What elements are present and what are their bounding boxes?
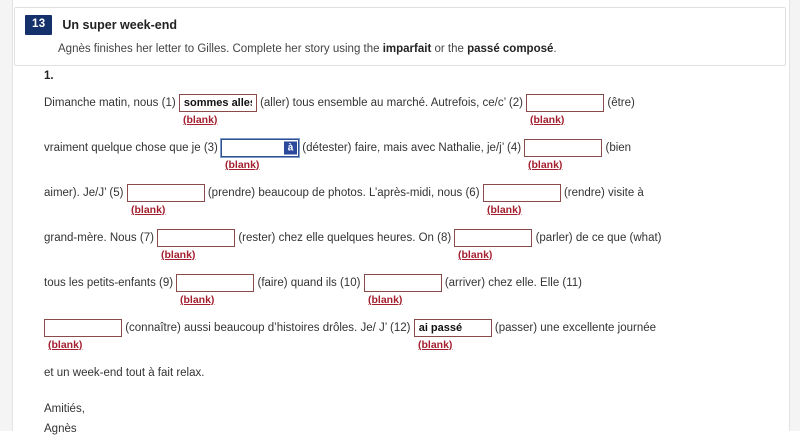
blank-caption: (blank) [487, 204, 521, 216]
blank-field-wrapper-4 [524, 138, 602, 158]
story-line-text: Dimanche matin, nous (1) (aller) tous en… [44, 93, 784, 113]
closing-line-agnes: Agnès [44, 419, 784, 439]
story-line-text: vraiment quelque chose que je (3) à (dét… [44, 138, 784, 158]
blank-caption: (blank) [528, 159, 562, 171]
item-number: 1. [44, 70, 784, 82]
question-body: 1. Dimanche matin, nous (1) (aller) tous… [44, 70, 784, 439]
blank-field-wrapper-2 [526, 93, 604, 113]
blank-field-wrapper-12 [414, 318, 492, 338]
blank-field-wrapper-6 [483, 183, 561, 203]
blank-caption: (blank) [458, 249, 492, 261]
instructions-text-3: . [553, 43, 556, 55]
story-text: (détester) faire, mais avec Nathalie, je… [302, 142, 524, 154]
blank-field-wrapper-5 [127, 183, 205, 203]
story-text: aimer). Je/J’ (5) [44, 187, 127, 199]
story-text: grand-mère. Nous (7) [44, 232, 157, 244]
story-text: (prendre) beaucoup de photos. L’après-mi… [208, 187, 483, 199]
blank-caption: (blank) [183, 114, 217, 126]
page-left-gutter [0, 0, 13, 431]
blank-caption: (blank) [48, 339, 82, 351]
blank-field-wrapper-3: à [221, 138, 299, 158]
story-text: tous les petits-enfants (9) [44, 277, 176, 289]
exercise-title: Un super week-end [62, 18, 177, 32]
blank-field-wrapper-1 [179, 93, 257, 113]
story-text: (faire) quand ils (10) [258, 277, 364, 289]
accent-char-a-grave-button[interactable]: à [284, 142, 297, 155]
instructions-text-1: Agnès finishes her letter to Gilles. Com… [58, 43, 383, 55]
instructions-text-2: or the [431, 43, 467, 55]
blank-caption: (blank) [368, 294, 402, 306]
signature-spacer [44, 383, 784, 399]
blank-input-12[interactable] [414, 319, 492, 337]
blank-field-wrapper-9 [176, 273, 254, 293]
story-line: aimer). Je/J’ (5) (prendre) beaucoup de … [44, 183, 784, 216]
story-line: grand-mère. Nous (7) (rester) chez elle … [44, 228, 784, 261]
story-text: (parler) de ce que (what) [536, 232, 662, 244]
exercise-header-card: 13 Un super week-end Agnès finishes her … [14, 7, 786, 66]
story-text: (bien [605, 142, 631, 154]
page-right-gutter [789, 0, 800, 431]
story-text: (arriver) chez elle. Elle (11) [445, 277, 582, 289]
instructions-term-imparfait: imparfait [383, 43, 432, 55]
closing-line-relax: et un week-end tout à fait relax. [44, 363, 784, 383]
blank-input-7[interactable] [157, 229, 235, 247]
blank-caption: (blank) [131, 204, 165, 216]
story-line-text: (connaître) aussi beaucoup d’histoires d… [44, 318, 784, 338]
story-text: Dimanche matin, nous (1) [44, 97, 179, 109]
blank-input-2[interactable] [526, 94, 604, 112]
blank-input-1[interactable] [179, 94, 257, 112]
story-line: Dimanche matin, nous (1) (aller) tous en… [44, 93, 784, 126]
story-line: (connaître) aussi beaucoup d’histoires d… [44, 318, 784, 351]
story-lines-container: Dimanche matin, nous (1) (aller) tous en… [44, 93, 784, 351]
blank-caption: (blank) [530, 114, 564, 126]
blank-field-wrapper-8 [454, 228, 532, 248]
story-line-text: aimer). Je/J’ (5) (prendre) beaucoup de … [44, 183, 784, 203]
blank-caption: (blank) [161, 249, 195, 261]
blank-input-11[interactable] [44, 319, 122, 337]
story-line-text: grand-mère. Nous (7) (rester) chez elle … [44, 228, 784, 248]
story-text: vraiment quelque chose que je (3) [44, 142, 221, 154]
blank-caption: (blank) [418, 339, 452, 351]
blank-input-9[interactable] [176, 274, 254, 292]
blank-caption: (blank) [180, 294, 214, 306]
exercise-page: 13 Un super week-end Agnès finishes her … [0, 0, 800, 431]
blank-field-wrapper-7 [157, 228, 235, 248]
story-text: (être) [607, 97, 634, 109]
exercise-header-title-row: 13 Un super week-end [25, 15, 775, 35]
story-text: (rester) chez elle quelques heures. On (… [238, 232, 454, 244]
instructions-term-passe-compose: passé composé [467, 43, 553, 55]
exercise-number-badge: 13 [25, 15, 52, 35]
blank-input-10[interactable] [364, 274, 442, 292]
blank-input-6[interactable] [483, 184, 561, 202]
story-text: (connaître) aussi beaucoup d’histoires d… [125, 322, 414, 334]
blank-input-8[interactable] [454, 229, 532, 247]
story-line: tous les petits-enfants (9) (faire) quan… [44, 273, 784, 306]
blank-field-wrapper-11 [44, 318, 122, 338]
blank-caption: (blank) [225, 159, 259, 171]
story-line: vraiment quelque chose que je (3) à (dét… [44, 138, 784, 171]
blank-field-wrapper-10 [364, 273, 442, 293]
story-text: (aller) tous ensemble au marché. Autrefo… [260, 97, 526, 109]
story-line-text: tous les petits-enfants (9) (faire) quan… [44, 273, 784, 293]
blank-input-5[interactable] [127, 184, 205, 202]
story-text: (passer) une excellente journée [495, 322, 656, 334]
story-text: (rendre) visite à [564, 187, 644, 199]
closing-line-amities: Amitiés, [44, 399, 784, 419]
exercise-instructions: Agnès finishes her letter to Gilles. Com… [58, 42, 775, 57]
blank-input-4[interactable] [524, 139, 602, 157]
